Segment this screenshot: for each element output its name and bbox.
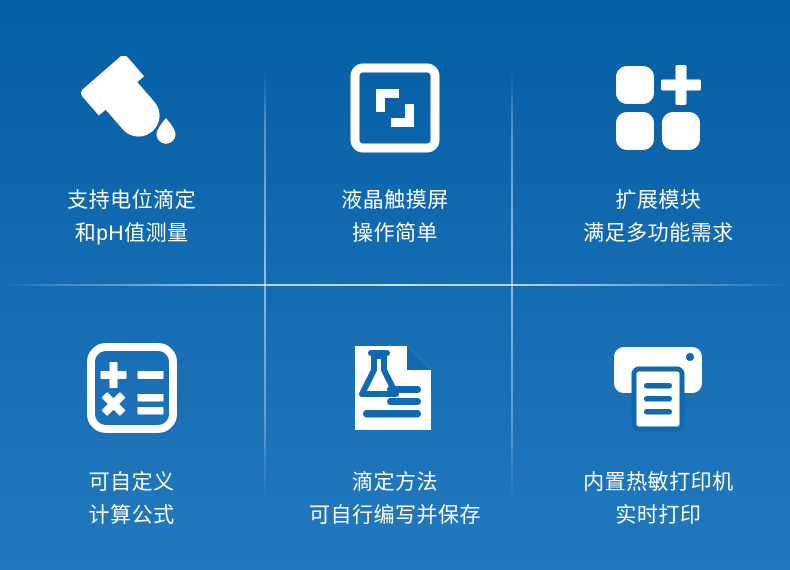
feature-caption: 液晶触摸屏 操作简单 [341,184,449,250]
thermal-printer-icon [610,328,706,448]
caption-line-1: 滴定方法 [309,466,481,499]
feature-cell-thermal-printer: 内置热敏打印机 实时打印 [527,285,790,570]
caption-line-1: 内置热敏打印机 [583,466,734,499]
feature-cell-custom-formula: 可自定义 计算公式 [0,285,263,570]
caption-line-1: 扩展模块 [583,184,734,217]
feature-caption: 支持电位滴定 和pH值测量 [67,184,196,250]
feature-cell-potentiometric-titration: 支持电位滴定 和pH值测量 [0,0,263,285]
feature-caption: 扩展模块 满足多功能需求 [583,184,734,250]
caption-line-2: 可自行编写并保存 [309,499,481,532]
caption-line-2: 实时打印 [583,499,734,532]
expansion-modules-plus-icon [610,48,706,168]
feature-grid-banner: 支持电位滴定 和pH值测量 液晶触摸屏 操作简单 [0,0,790,570]
feature-cell-titration-method: 滴定方法 可自行编写并保存 [263,285,526,570]
feature-caption: 可自定义 计算公式 [89,466,175,532]
feature-caption: 内置热敏打印机 实时打印 [583,466,734,532]
caption-line-1: 可自定义 [89,466,175,499]
tilted-test-tube-drop-icon [80,48,184,168]
touchscreen-fullscreen-icon [347,48,443,168]
flask-document-icon [349,328,441,448]
caption-line-2: 操作简单 [341,217,449,250]
feature-grid: 支持电位滴定 和pH值测量 液晶触摸屏 操作简单 [0,0,790,570]
feature-caption: 滴定方法 可自行编写并保存 [309,466,481,532]
caption-line-2: 和pH值测量 [67,217,196,250]
caption-line-2: 计算公式 [89,499,175,532]
feature-cell-touchscreen: 液晶触摸屏 操作简单 [263,0,526,285]
feature-cell-expansion-modules: 扩展模块 满足多功能需求 [527,0,790,285]
caption-line-1: 支持电位滴定 [67,184,196,217]
caption-line-1: 液晶触摸屏 [341,184,449,217]
calculator-icon [86,328,178,448]
caption-line-2: 满足多功能需求 [583,217,734,250]
